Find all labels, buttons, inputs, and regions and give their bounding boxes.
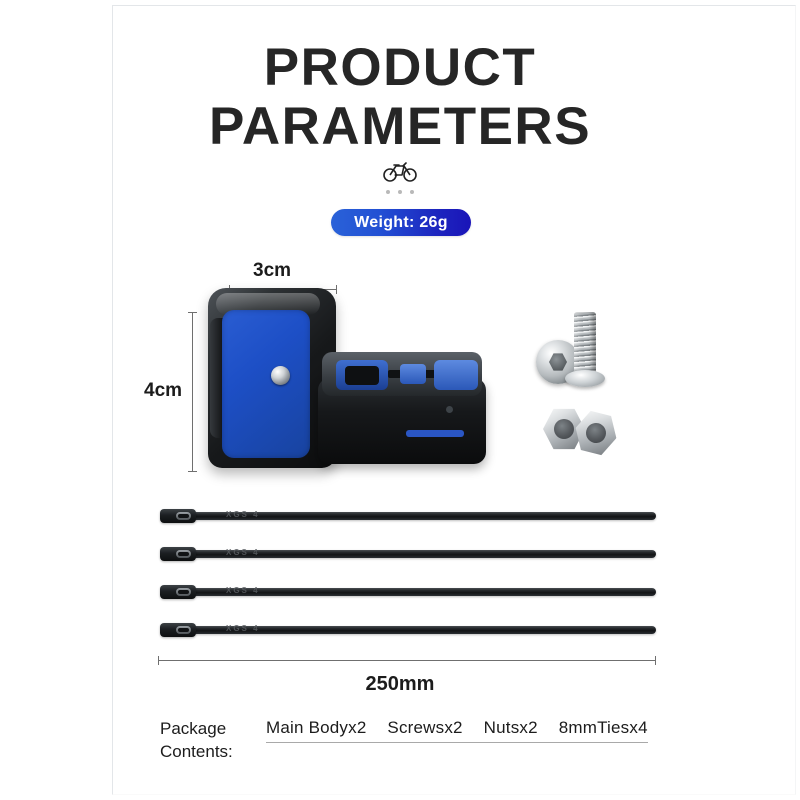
package-item-nuts: Nutsx2 [484,718,538,737]
page-title: PRODUCT PARAMETERS [0,38,800,157]
tie-eye [176,588,191,596]
tie-length-label: 250mm [0,673,800,696]
main-body-upright [208,288,336,468]
tie-eye [176,512,191,520]
height-dimension-line [192,312,193,472]
dot-3 [410,190,414,194]
tie-eye [176,550,191,558]
main-body-flat [318,352,486,464]
width-dimension-tick-right [336,285,337,294]
package-item-ties: 8mmTiesx4 [559,718,648,737]
tie-strap [190,550,656,558]
tie-eye [176,626,191,634]
flat-mount-slot-a [336,360,388,390]
tie-imprint: XGS 4 [226,624,260,633]
cable-tie-2: XGS 4 [160,547,656,561]
dot-1 [386,190,390,194]
weight-badge: Weight: 26g [331,209,471,236]
flat-mount-slot-c [434,360,478,390]
title-line-1: PRODUCT [0,38,800,97]
package-item-screws: Screwsx2 [387,718,462,737]
package-item-main-body: Main Bodyx2 [266,718,366,737]
tie-length-line [158,660,656,661]
screw-flange [565,370,605,387]
tie-strap [190,626,656,634]
mount-screw-hole [271,366,290,385]
tie-imprint: XGS 4 [226,510,260,519]
screw-shank [574,312,596,374]
package-contents-label-line1: Package [160,718,260,741]
tie-length-tick-left [158,656,159,665]
nut-2 [571,408,622,459]
tie-strap [190,588,656,596]
decoration-block [0,160,800,194]
decorative-dots [0,190,800,194]
cable-tie-3: XGS 4 [160,585,656,599]
height-dimension-label: 4cm [144,380,182,402]
package-contents-label-line2: Contents: [160,741,260,764]
tie-head [160,509,196,523]
product-parameters-page: PRODUCT PARAMETERS Weight: 26g 3cm 4cm [0,0,800,800]
tie-strap [190,512,656,520]
tie-head [160,623,196,637]
tie-head [160,547,196,561]
height-dimension-tick-top [188,312,197,313]
title-line-2: PARAMETERS [0,97,800,156]
cable-tie-4: XGS 4 [160,623,656,637]
tie-imprint: XGS 4 [226,586,260,595]
package-contents-items: Main Bodyx2 Screwsx2 Nutsx2 8mmTiesx4 [266,718,648,743]
cable-tie-1: XGS 4 [160,509,656,523]
package-contents: Package Contents: Main Bodyx2 Screwsx2 N… [160,718,660,764]
screw-threaded-view [572,312,598,390]
flat-mount-slot-b [400,364,426,384]
package-contents-label: Package Contents: [160,718,260,764]
tie-head [160,585,196,599]
flat-mount-blue-strip [406,430,464,437]
bicycle-icon [0,160,800,187]
flat-mount-knob [446,406,453,413]
tie-imprint: XGS 4 [226,548,260,557]
tie-length-tick-right [655,656,656,665]
flat-mount-top-tray [322,352,482,396]
height-dimension-tick-bottom [188,471,197,472]
dot-2 [398,190,402,194]
mount-blue-face [222,310,310,458]
width-dimension-label: 3cm [253,260,291,282]
